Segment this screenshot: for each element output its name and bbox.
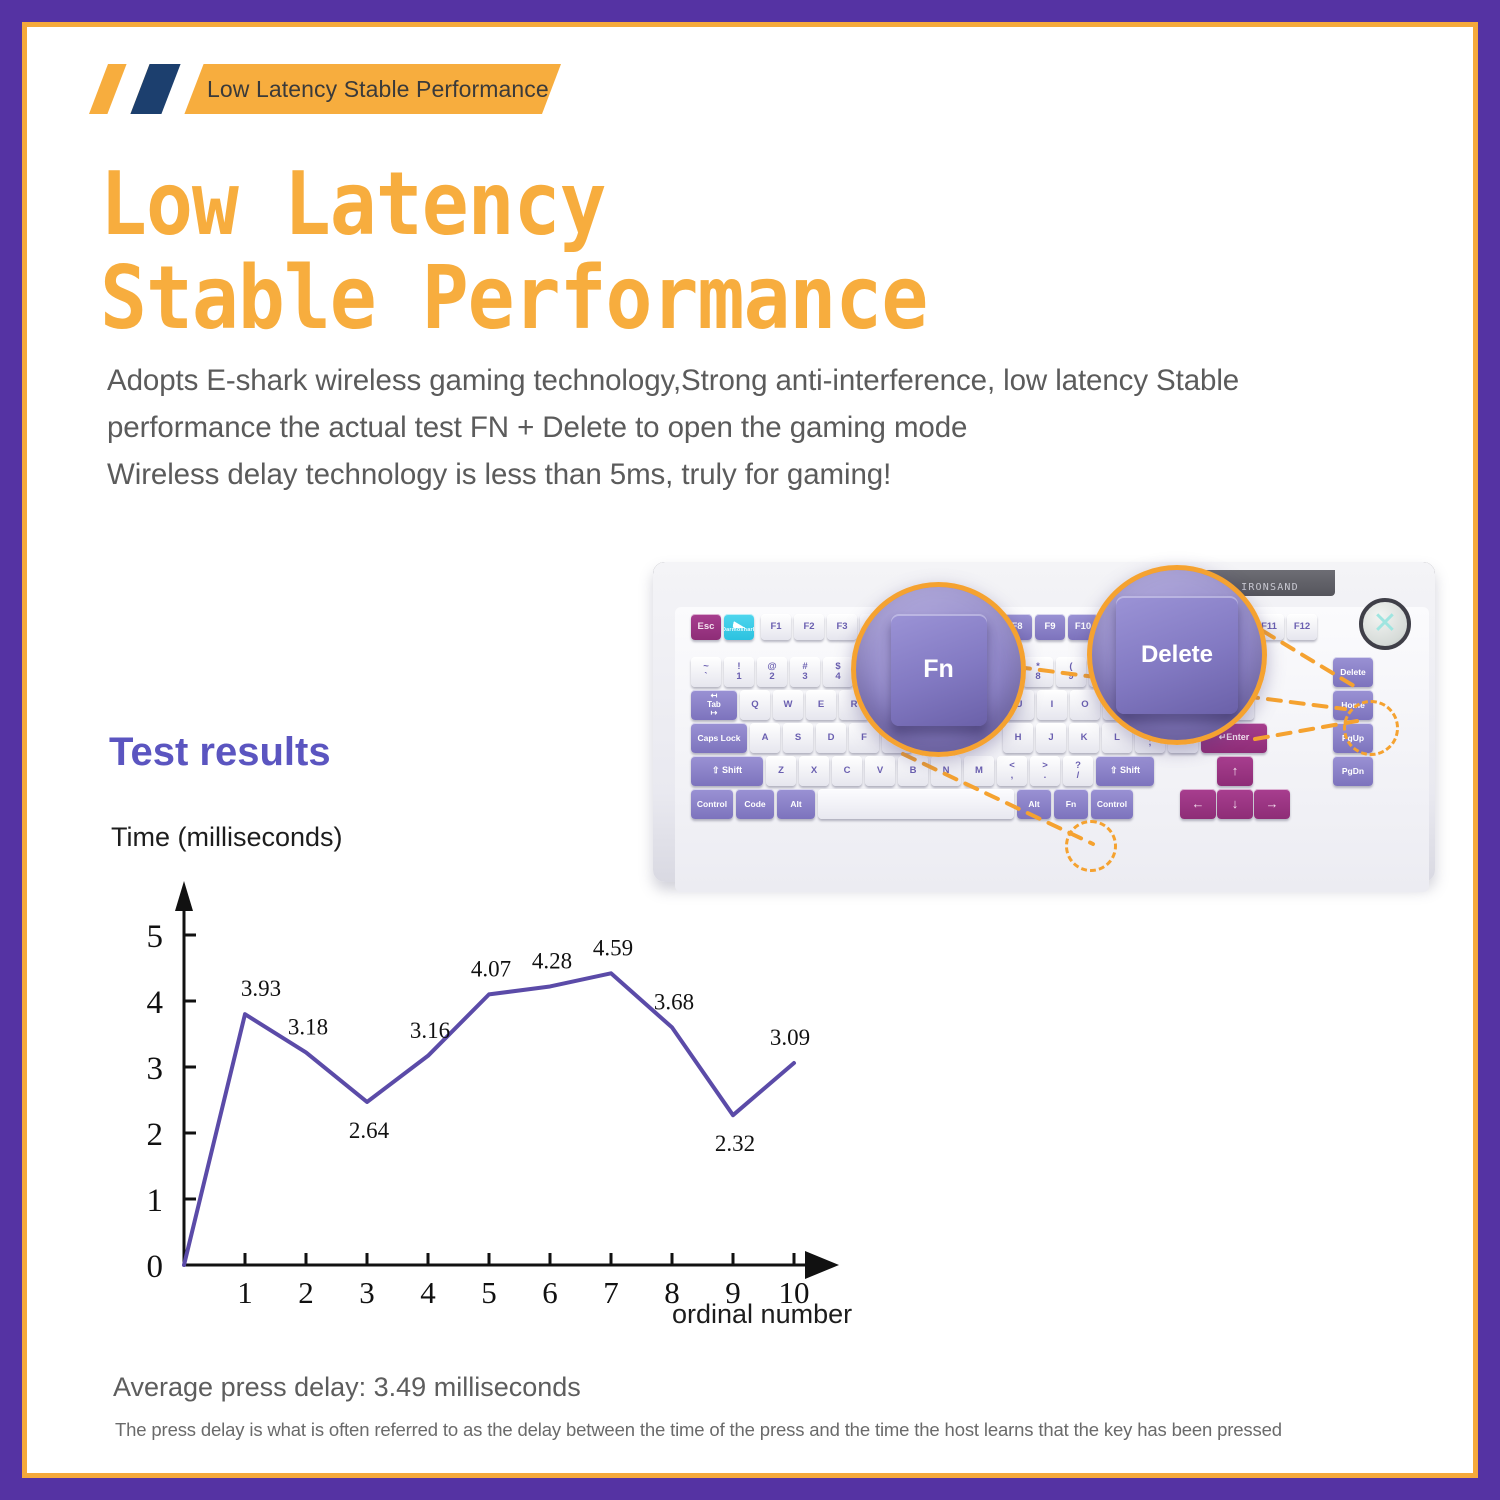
fn-key-magnifier: Fn	[851, 582, 1026, 757]
section-title-test-results: Test results	[109, 730, 331, 775]
key-comma[interactable]: <,	[997, 756, 1027, 786]
chart-x-tick-labels: 12345678910	[237, 1275, 809, 1307]
key-f9[interactable]: F9	[1035, 614, 1065, 640]
average-delay-text: Average press delay: 3.49 milliseconds	[113, 1372, 581, 1403]
key-esc[interactable]: Esc	[691, 614, 721, 640]
chart-x-tick-6: 6	[542, 1275, 558, 1307]
chart-y-tick-3: 3	[147, 1051, 164, 1087]
chart-series-line	[184, 973, 794, 1265]
delete-key-zoomed-label: Delete	[1116, 596, 1238, 714]
key-1[interactable]: !1	[724, 657, 754, 687]
key-w[interactable]: W	[773, 690, 803, 720]
chart-x-tick-7: 7	[603, 1275, 619, 1307]
key-slash[interactable]: ?/	[1063, 756, 1093, 786]
chart-y-tick-5: 5	[147, 919, 164, 955]
chart-x-tick-4: 4	[420, 1275, 436, 1307]
key-period[interactable]: >.	[1030, 756, 1060, 786]
key-shift-left[interactable]: ⇧ Shift	[691, 756, 763, 786]
key-s[interactable]: S	[783, 723, 813, 753]
key-j[interactable]: J	[1036, 723, 1066, 753]
chart-y-tick-4: 4	[147, 985, 164, 1021]
chart-axes	[175, 881, 839, 1279]
key-d[interactable]: D	[816, 723, 846, 753]
key-tab[interactable]: ↤Tab↦	[691, 690, 737, 720]
key-f3[interactable]: F3	[827, 614, 857, 640]
chart-svg: 012345 12345678910 3.933.182.643.164.074…	[117, 867, 907, 1307]
shark-fin-icon: Darmoshark	[724, 621, 754, 634]
chart-y-tick-labels: 012345	[147, 919, 164, 1285]
footnote-text: The press delay is what is often referre…	[115, 1419, 1282, 1441]
key-x[interactable]: X	[799, 756, 829, 786]
key-caps-lock[interactable]: Caps Lock	[691, 723, 747, 753]
key-v[interactable]: V	[865, 756, 895, 786]
key-9[interactable]: (9	[1056, 657, 1086, 687]
key-k[interactable]: K	[1069, 723, 1099, 753]
key-z[interactable]: Z	[766, 756, 796, 786]
chart-y-tick-2: 2	[147, 1117, 164, 1153]
key-arrow-down[interactable]: ↓	[1217, 789, 1253, 819]
key-darmoshark-logo[interactable]: Darmoshark	[724, 614, 754, 640]
key-b[interactable]: B	[898, 756, 928, 786]
poster-background: Low Latency Stable Performance Low Laten…	[0, 0, 1500, 1500]
chart-point-label-5: 4.07	[471, 956, 511, 981]
chart-x-tick-2: 2	[298, 1275, 314, 1307]
key-3[interactable]: #3	[790, 657, 820, 687]
chart-point-label-10: 3.09	[770, 1025, 810, 1050]
key-n[interactable]: N	[931, 756, 961, 786]
chart-point-label-4: 3.16	[410, 1018, 450, 1043]
key-f2[interactable]: F2	[794, 614, 824, 640]
key-alt-right[interactable]: Alt	[1017, 789, 1051, 819]
description-line3: Wireless delay technology is less than 5…	[107, 451, 1417, 498]
delete-key-magnifier: Delete	[1087, 565, 1267, 745]
chart-x-tick-5: 5	[481, 1275, 497, 1307]
key-c[interactable]: C	[832, 756, 862, 786]
chart-point-label-6: 4.28	[532, 948, 572, 973]
chart-point-label-3: 2.64	[349, 1118, 390, 1143]
key-e[interactable]: E	[806, 690, 836, 720]
page-title-line2: Stable Performance	[100, 252, 1200, 346]
key-f12[interactable]: F12	[1287, 614, 1317, 640]
chart-point-label-7: 4.59	[593, 935, 633, 960]
chart-point-label-2: 3.18	[288, 1014, 328, 1039]
key-h[interactable]: H	[1003, 723, 1033, 753]
poster-canvas: Low Latency Stable Performance Low Laten…	[27, 27, 1473, 1473]
key-m[interactable]: M	[964, 756, 994, 786]
chart-point-label-9: 2.32	[715, 1131, 755, 1156]
key-backtick[interactable]: ~`	[691, 657, 721, 687]
chart-x-ticks	[245, 1253, 794, 1265]
chart-x-tick-8: 8	[664, 1275, 680, 1307]
key-fn[interactable]: Fn	[1054, 789, 1088, 819]
latency-line-chart: 012345 12345678910 3.933.182.643.164.074…	[117, 867, 907, 1307]
description-paragraph: Adopts E-shark wireless gaming technolog…	[107, 357, 1417, 498]
key-alt-left[interactable]: Alt	[777, 789, 815, 819]
key-arrow-left[interactable]: ←	[1180, 789, 1216, 819]
key-i[interactable]: I	[1037, 690, 1067, 720]
fn-key-highlight-circle	[1065, 820, 1117, 872]
key-8[interactable]: *8	[1023, 657, 1053, 687]
close-x-icon[interactable]: ✕	[1359, 598, 1411, 650]
fn-key-zoomed-label: Fn	[891, 614, 987, 726]
key-f1[interactable]: F1	[761, 614, 791, 640]
page-title-line1: Low Latency	[100, 155, 606, 256]
page-title: Low Latency Stable Performance	[100, 158, 1200, 346]
key-4[interactable]: $4	[823, 657, 853, 687]
key-arrow-up[interactable]: ↑	[1217, 756, 1253, 786]
chart-x-tick-3: 3	[359, 1275, 375, 1307]
key-2[interactable]: @2	[757, 657, 787, 687]
key-code[interactable]: Code	[736, 789, 774, 819]
ribbon-label: Low Latency Stable Performance	[207, 64, 549, 114]
chart-x-tick-10: 10	[779, 1275, 810, 1307]
chart-y-tick-0: 0	[147, 1249, 164, 1285]
chart-y-axis-title: Time (milliseconds)	[111, 822, 343, 853]
chart-y-tick-1: 1	[147, 1183, 164, 1219]
chart-point-label-8: 3.68	[654, 989, 694, 1014]
key-pgdn[interactable]: PgDn	[1333, 756, 1373, 786]
header-ribbon: Low Latency Stable Performance	[89, 64, 561, 114]
key-a[interactable]: A	[750, 723, 780, 753]
key-control-left[interactable]: Control	[691, 789, 733, 819]
chart-x-tick-1: 1	[237, 1275, 253, 1307]
chart-point-label-1: 3.93	[241, 976, 281, 1001]
chart-x-tick-9: 9	[725, 1275, 741, 1307]
key-shift-right[interactable]: ⇧ Shift	[1096, 756, 1154, 786]
keyboard-body: IRONSAND ✕ Esc Darmoshark F1 F2 F3 F4	[653, 562, 1435, 882]
key-space[interactable]	[818, 789, 1014, 819]
poster-frame: Low Latency Stable Performance Low Laten…	[22, 22, 1478, 1478]
keyboard-illustration: IRONSAND ✕ Esc Darmoshark F1 F2 F3 F4	[645, 539, 1445, 899]
key-control-right[interactable]: Control	[1091, 789, 1133, 819]
key-q[interactable]: Q	[740, 690, 770, 720]
key-arrow-right[interactable]: →	[1254, 789, 1290, 819]
chart-data-labels: 3.933.182.643.164.074.284.593.682.323.09	[241, 935, 810, 1156]
description-line2: performance the actual test FN + Delete …	[107, 404, 1417, 451]
delete-key-highlight-circle	[1343, 700, 1399, 756]
key-delete[interactable]: Delete	[1333, 657, 1373, 687]
description-line1: Adopts E-shark wireless gaming technolog…	[107, 357, 1417, 404]
